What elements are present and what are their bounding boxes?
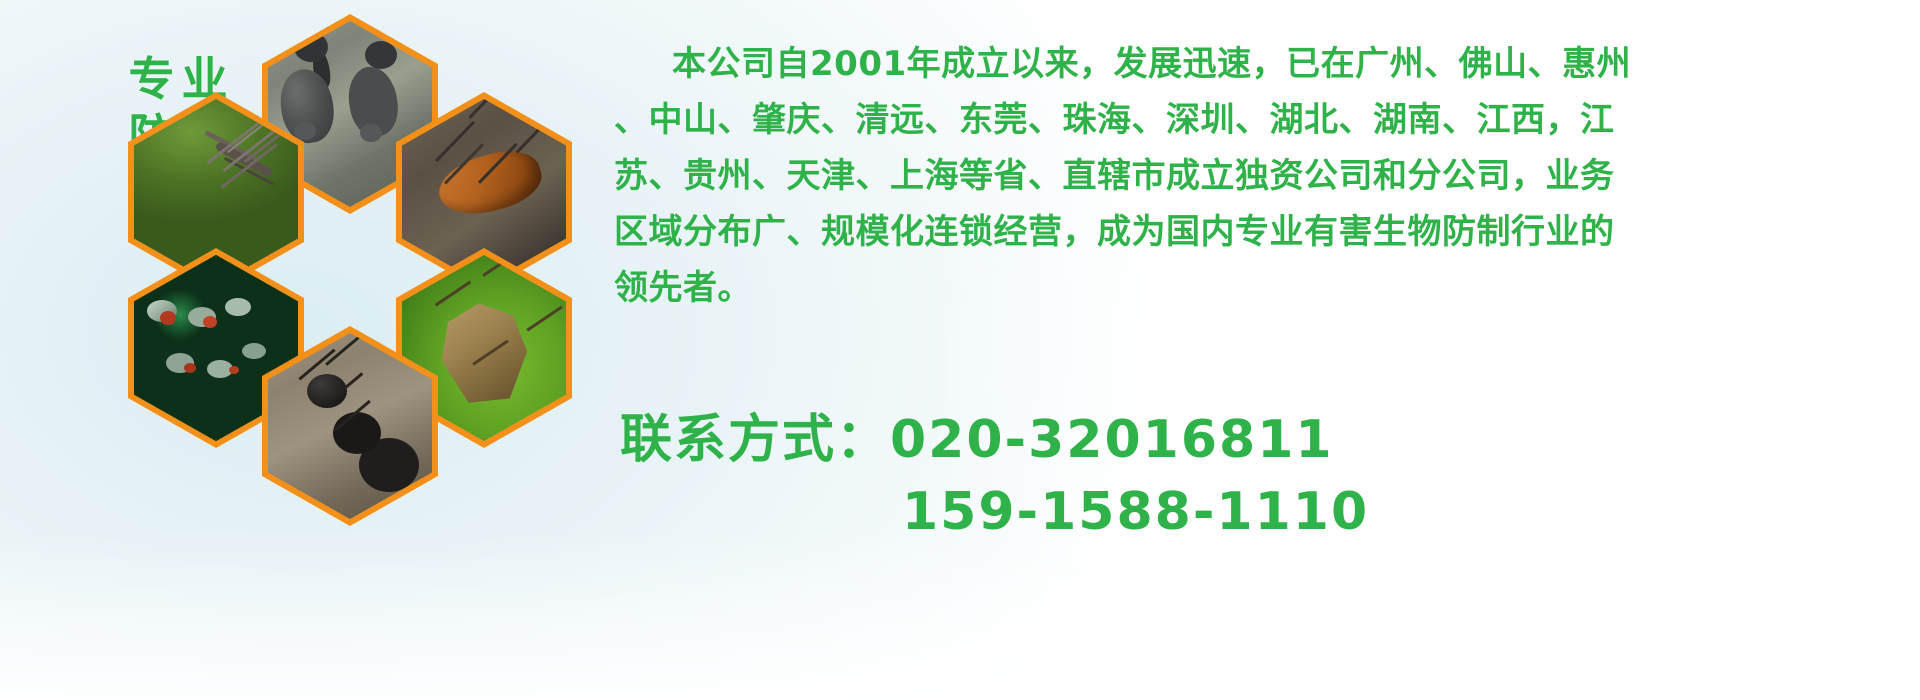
ant-photo: [268, 333, 432, 519]
hex-cell-ant-clip: [268, 333, 432, 519]
description-line-1: 本公司自2001年成立以来，发展迅速，已在广州、佛山、惠州: [614, 36, 1908, 92]
description-line-3: 苏、贵州、天津、上海等省、直辖市成立独资公司和分公司，业务: [614, 148, 1908, 204]
contact-phone-secondary[interactable]: 159-1588-1110: [620, 476, 1910, 548]
contact-block: 联系方式：020-32016811 159-1588-1110: [620, 404, 1910, 548]
company-description: 本公司自2001年成立以来，发展迅速，已在广州、佛山、惠州 、中山、肇庆、清远、…: [614, 36, 1908, 316]
description-line-4: 区域分布广、规模化连锁经营，成为国内专业有害生物防制行业的: [614, 204, 1908, 260]
description-line-5: 领先者。: [614, 260, 1908, 316]
hexagon-image-cluster: 专业 防治: [90, 8, 590, 568]
contact-phone-primary[interactable]: 联系方式：020-32016811: [620, 404, 1910, 476]
description-line-2: 、中山、肇庆、清远、东莞、珠海、深圳、湖北、湖南、江西，江: [614, 92, 1908, 148]
promo-banner: 专业 防治 本公司自2001年成立以来，发展迅速，已在广州、佛山、惠州 、中山、…: [0, 0, 1920, 700]
